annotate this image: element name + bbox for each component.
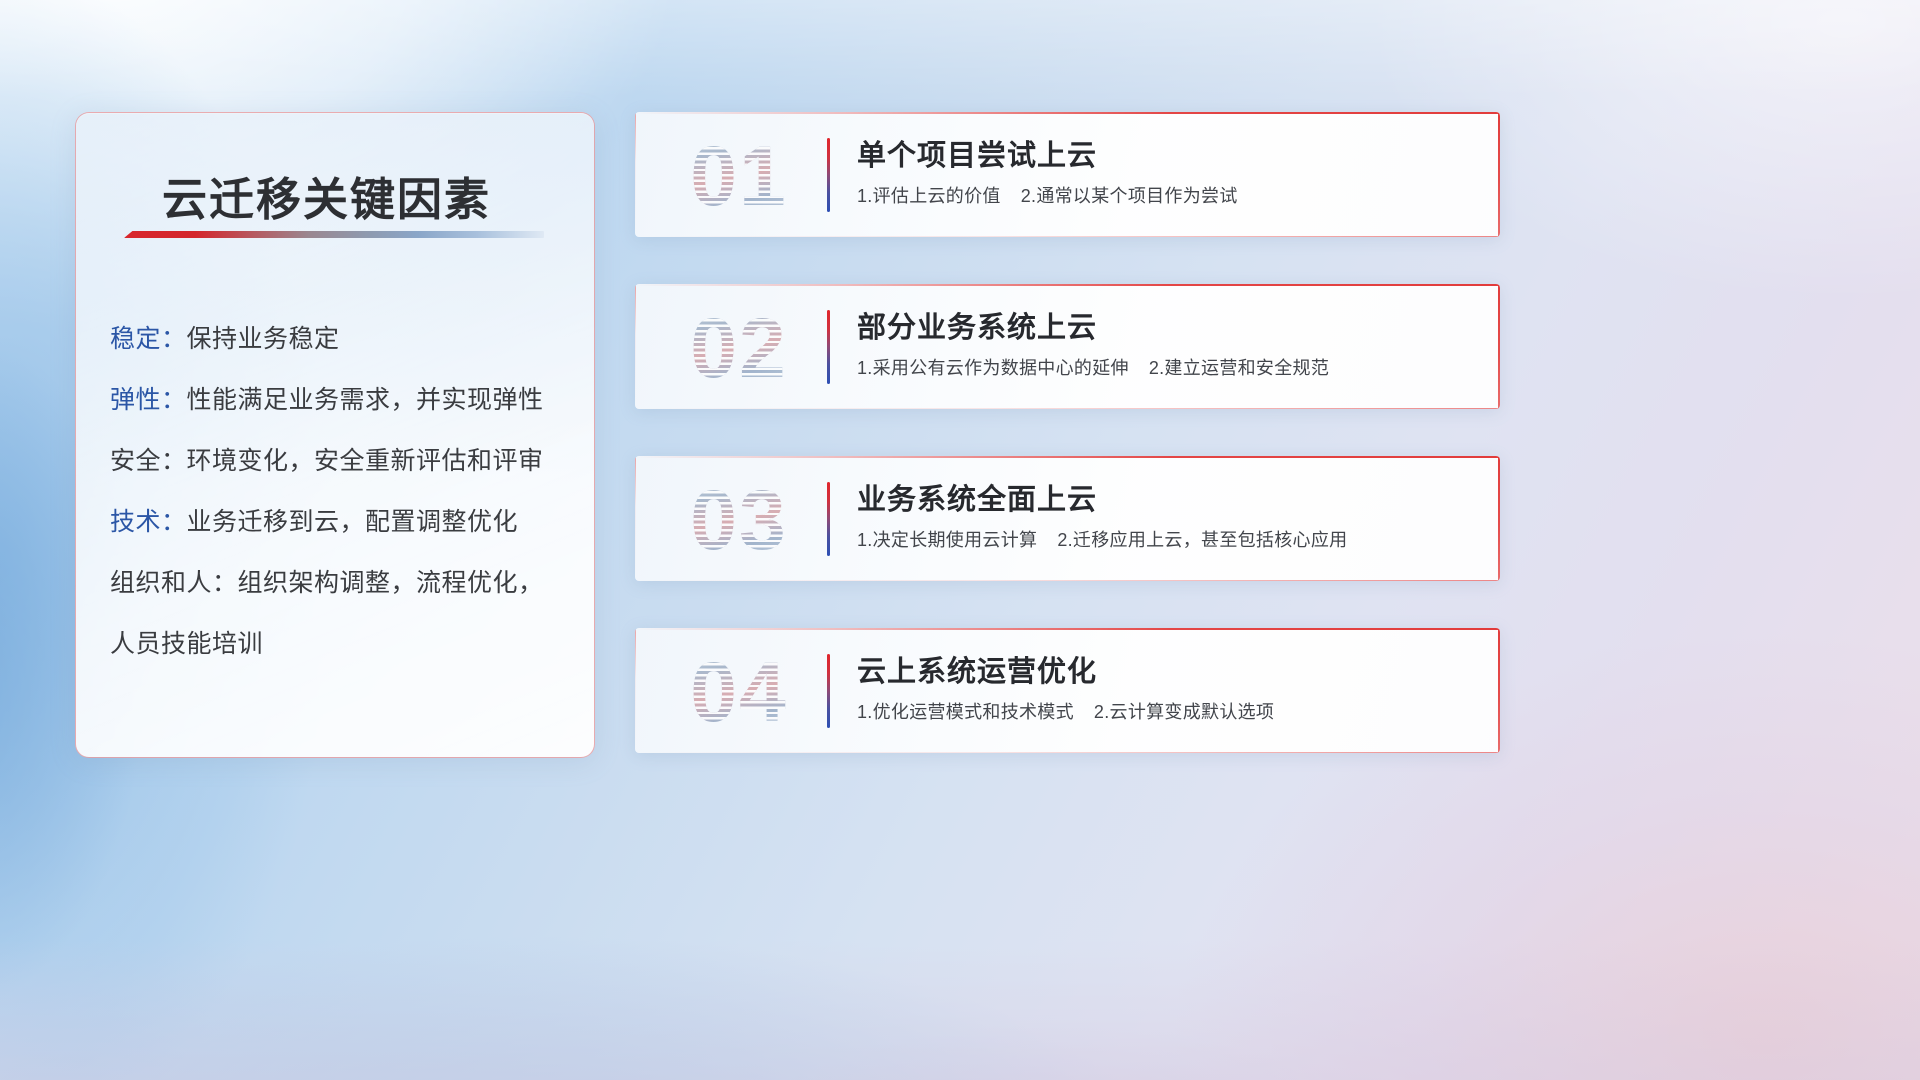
- key-factor-text: 保持业务稳定: [187, 325, 340, 353]
- card-edge-top: [635, 284, 1500, 286]
- key-factor-label: 稳定：: [110, 325, 187, 353]
- card-edge-right: [1498, 456, 1500, 581]
- card-edge-left: [635, 628, 636, 753]
- step-divider-bar: [827, 310, 830, 384]
- key-factor-line: 人员技能培训: [110, 614, 580, 675]
- step-point: 2.云计算变成默认选项: [1094, 702, 1274, 722]
- step-title: 业务系统全面上云: [857, 476, 1097, 518]
- step-card[interactable]: 02部分业务系统上云1.采用公有云作为数据中心的延伸2.建立运营和安全规范: [635, 284, 1500, 409]
- step-number: 01: [659, 128, 819, 224]
- key-factor-label: 弹性：: [110, 386, 187, 414]
- card-edge-left: [635, 112, 636, 237]
- key-factor-line: 弹性：性能满足业务需求，并实现弹性: [110, 370, 580, 431]
- key-factor-text: 组织架构调整，流程优化，: [238, 569, 544, 597]
- step-number: 04: [659, 644, 819, 740]
- key-factor-text: 业务迁移到云，配置调整优化: [187, 508, 519, 536]
- key-factors-list: 稳定：保持业务稳定弹性：性能满足业务需求，并实现弹性安全：环境变化，安全重新评估…: [110, 309, 580, 675]
- key-factor-text: 环境变化，安全重新评估和评审: [187, 447, 544, 475]
- title-accent-rule: [124, 231, 544, 238]
- slide-stage: 云迁移关键因素 稳定：保持业务稳定弹性：性能满足业务需求，并实现弹性安全：环境变…: [0, 0, 1920, 1080]
- step-divider-bar: [827, 138, 830, 212]
- step-divider-bar: [827, 654, 830, 728]
- step-subtitle: 1.优化运营模式和技术模式2.云计算变成默认选项: [857, 698, 1274, 724]
- page-title: 云迁移关键因素: [162, 163, 562, 228]
- card-edge-right: [1498, 112, 1500, 237]
- card-edge-top: [635, 628, 1500, 630]
- key-factor-line: 安全：环境变化，安全重新评估和评审: [110, 431, 580, 492]
- key-factor-line: 技术：业务迁移到云，配置调整优化: [110, 492, 580, 553]
- step-divider-bar: [827, 482, 830, 556]
- step-point: 1.优化运营模式和技术模式: [857, 702, 1074, 722]
- step-title: 部分业务系统上云: [857, 304, 1097, 346]
- step-subtitle: 1.决定长期使用云计算2.迁移应用上云，甚至包括核心应用: [857, 526, 1347, 552]
- step-number: 02: [659, 300, 819, 396]
- step-title: 云上系统运营优化: [857, 648, 1097, 690]
- key-factor-label: 技术：: [110, 508, 187, 536]
- key-factor-label: 组织和人：: [110, 569, 238, 597]
- card-edge-right: [1498, 628, 1500, 753]
- step-card[interactable]: 01单个项目尝试上云1.评估上云的价值2.通常以某个项目作为尝试: [635, 112, 1500, 237]
- step-point: 2.通常以某个项目作为尝试: [1021, 186, 1238, 206]
- card-edge-bottom: [635, 580, 1500, 581]
- card-edge-left: [635, 456, 636, 581]
- card-edge-top: [635, 456, 1500, 458]
- card-edge-bottom: [635, 752, 1500, 753]
- key-factor-line: 组织和人：组织架构调整，流程优化，: [110, 553, 580, 614]
- card-edge-top: [635, 112, 1500, 114]
- step-point: 1.决定长期使用云计算: [857, 530, 1037, 550]
- card-edge-bottom: [635, 408, 1500, 409]
- step-point: 2.迁移应用上云，甚至包括核心应用: [1057, 530, 1347, 550]
- step-number: 03: [659, 472, 819, 568]
- card-edge-left: [635, 284, 636, 409]
- step-subtitle: 1.评估上云的价值2.通常以某个项目作为尝试: [857, 182, 1238, 208]
- step-card[interactable]: 03业务系统全面上云1.决定长期使用云计算2.迁移应用上云，甚至包括核心应用: [635, 456, 1500, 581]
- step-point: 1.采用公有云作为数据中心的延伸: [857, 358, 1129, 378]
- card-edge-bottom: [635, 236, 1500, 237]
- step-point: 2.建立运营和安全规范: [1149, 358, 1329, 378]
- step-title: 单个项目尝试上云: [857, 132, 1097, 174]
- key-factor-line: 稳定：保持业务稳定: [110, 309, 580, 370]
- step-point: 1.评估上云的价值: [857, 186, 1001, 206]
- key-factor-label: 安全：: [110, 447, 187, 475]
- card-edge-right: [1498, 284, 1500, 409]
- key-factors-panel: 云迁移关键因素 稳定：保持业务稳定弹性：性能满足业务需求，并实现弹性安全：环境变…: [75, 112, 595, 758]
- step-subtitle: 1.采用公有云作为数据中心的延伸2.建立运营和安全规范: [857, 354, 1329, 380]
- key-factor-text: 人员技能培训: [110, 630, 263, 658]
- step-card[interactable]: 04云上系统运营优化1.优化运营模式和技术模式2.云计算变成默认选项: [635, 628, 1500, 753]
- key-factor-text: 性能满足业务需求，并实现弹性: [187, 386, 544, 414]
